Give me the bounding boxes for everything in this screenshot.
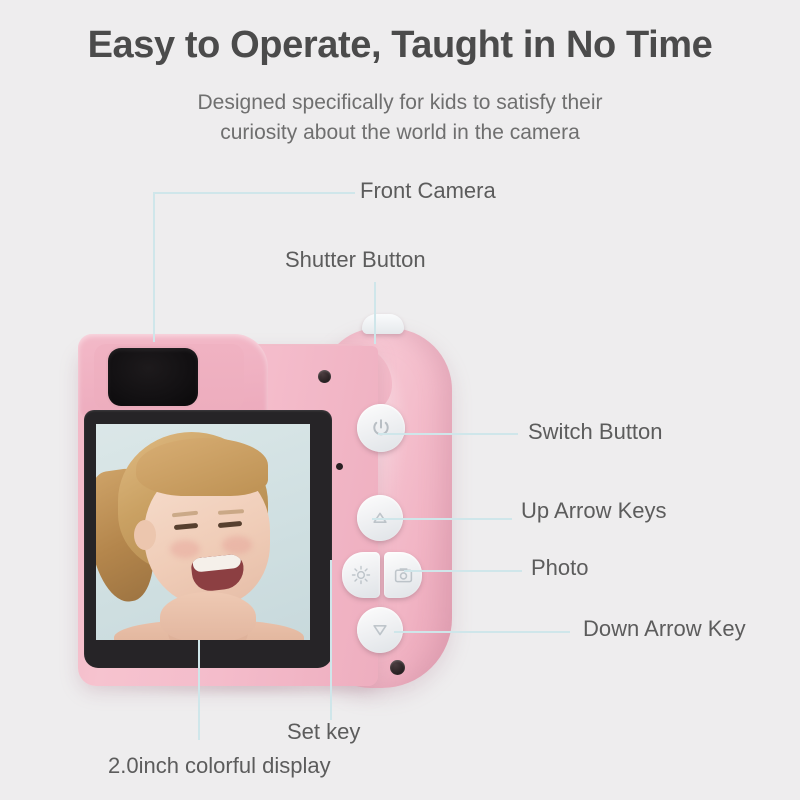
photo-ear — [134, 520, 156, 550]
photo-fringe — [136, 438, 268, 496]
subtitle-line-2: curiosity about the world in the camera — [0, 118, 800, 148]
leader-up-arrow-keys — [372, 518, 512, 520]
leader-switch-button — [378, 433, 518, 435]
photo-cheek-right — [222, 536, 252, 554]
callout-shutter-button: Shutter Button — [285, 249, 426, 271]
leader-photo — [404, 570, 522, 572]
leader-front-camera-vertical — [153, 192, 155, 342]
photo-chin — [160, 592, 256, 640]
front-camera-lens — [108, 348, 198, 406]
photo-icon — [393, 565, 414, 586]
power-icon — [370, 417, 392, 439]
subtitle-line-1: Designed specifically for kids to satisf… — [0, 88, 800, 118]
callout-up-arrow-keys: Up Arrow Keys — [521, 500, 667, 522]
settings-set-key-button[interactable] — [342, 552, 380, 598]
callout-switch-button: Switch Button — [528, 421, 663, 443]
power-switch-button[interactable] — [357, 404, 405, 452]
leader-display — [198, 640, 200, 740]
photo-cheek-left — [170, 540, 200, 558]
screw-bottom-right — [390, 660, 405, 675]
callout-photo: Photo — [531, 557, 589, 579]
lcd-display — [96, 424, 310, 640]
callout-front-camera: Front Camera — [360, 180, 496, 202]
leader-front-camera-horizontal — [153, 192, 355, 194]
infographic-canvas: Easy to Operate, Taught in No Time Desig… — [0, 0, 800, 800]
leader-set-key — [330, 560, 332, 720]
shutter-button[interactable] — [362, 314, 404, 334]
microphone-hole — [336, 463, 343, 470]
leader-shutter-button — [374, 282, 376, 344]
screw-top-right — [318, 370, 331, 383]
callout-set-key: Set key — [287, 721, 360, 743]
down-arrow-button[interactable] — [357, 607, 403, 653]
triangle-down-icon — [370, 620, 390, 640]
leader-down-arrow-key — [394, 631, 570, 633]
callout-down-arrow-key: Down Arrow Key — [583, 618, 746, 640]
camera-illustration — [72, 300, 452, 700]
callout-display: 2.0inch colorful display — [108, 755, 331, 777]
sun-gear-icon — [351, 565, 371, 585]
page-title: Easy to Operate, Taught in No Time — [0, 24, 800, 67]
page-subtitle: Designed specifically for kids to satisf… — [0, 88, 800, 148]
